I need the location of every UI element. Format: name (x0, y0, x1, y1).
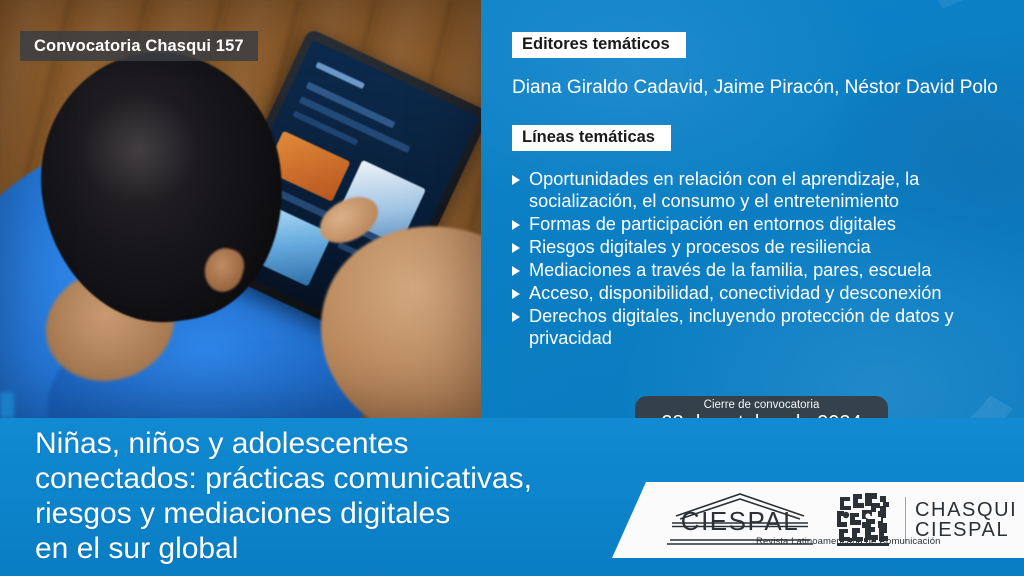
triangle-bullet-icon (512, 266, 520, 276)
editors-section-tag: Editores temáticos (512, 32, 686, 58)
list-item-label: Formas de participación en entornos digi… (529, 213, 1012, 235)
page-title: Niñas, niños y adolescentes conectados: … (35, 426, 615, 566)
chasqui-wordmark-line-1: CHASQUI (915, 500, 1017, 520)
ciespal-wordmark: CIESPAL (670, 506, 810, 537)
thematic-lines-section-tag: Líneas temáticas (512, 125, 671, 151)
poster-root: Convocatoria Chasqui 157 Editores temáti… (0, 0, 1024, 576)
triangle-bullet-icon (512, 175, 520, 185)
list-item-label: Oportunidades en relación con el aprendi… (529, 168, 1012, 212)
triangle-bullet-icon (512, 243, 520, 253)
list-item: Mediaciones a través de la familia, pare… (512, 259, 1012, 281)
list-item-label: Riesgos digitales y procesos de resilien… (529, 236, 1012, 258)
page-title-line-4: en el sur global (35, 531, 615, 566)
logo-band: CIESPAL (612, 482, 1024, 558)
editors-names: Diana Giraldo Cadavid, Jaime Piracón, Né… (512, 76, 1022, 101)
list-item: Formas de participación en entornos digi… (512, 213, 1012, 235)
thematic-lines-list: Oportunidades en relación con el aprendi… (512, 168, 1012, 350)
list-item-label: Mediaciones a través de la familia, pare… (529, 259, 1012, 281)
list-item: Riesgos digitales y procesos de resilien… (512, 236, 1012, 258)
deadline-label: Cierre de convocatoria (704, 399, 820, 412)
page-title-line-3: riesgos y mediaciones digitales (35, 496, 615, 531)
photo-edge-sliver (0, 392, 14, 418)
triangle-bullet-icon (512, 312, 520, 322)
call-badge-label: Convocatoria Chasqui 157 (34, 37, 244, 56)
thematic-lines-tag-label: Líneas temáticas (522, 128, 655, 146)
call-badge: Convocatoria Chasqui 157 (20, 31, 258, 61)
chasqui-subtitle: Revista Latinoamericana de Comunicación (756, 536, 941, 547)
list-item: Acceso, disponibilidad, conectividad y d… (512, 282, 1012, 304)
list-item: Derechos digitales, incluyendo protecció… (512, 305, 1012, 349)
cover-photo-boy-with-tablet (0, 0, 481, 418)
list-item-label: Derechos digitales, incluyendo protecció… (529, 305, 1012, 349)
chasqui-wordmark: CHASQUI CIESPAL (915, 500, 1017, 541)
triangle-bullet-icon (512, 220, 520, 230)
page-title-line-2: conectados: prácticas comunicativas, (35, 461, 615, 496)
list-item-label: Acceso, disponibilidad, conectividad y d… (529, 282, 1012, 304)
triangle-bullet-icon (512, 289, 520, 299)
page-title-line-1: Niñas, niños y adolescentes (35, 426, 615, 461)
list-item: Oportunidades en relación con el aprendi… (512, 168, 1012, 212)
logo-row: CIESPAL (664, 482, 1024, 558)
editors-tag-label: Editores temáticos (522, 35, 670, 53)
photo-vignette (0, 0, 481, 418)
